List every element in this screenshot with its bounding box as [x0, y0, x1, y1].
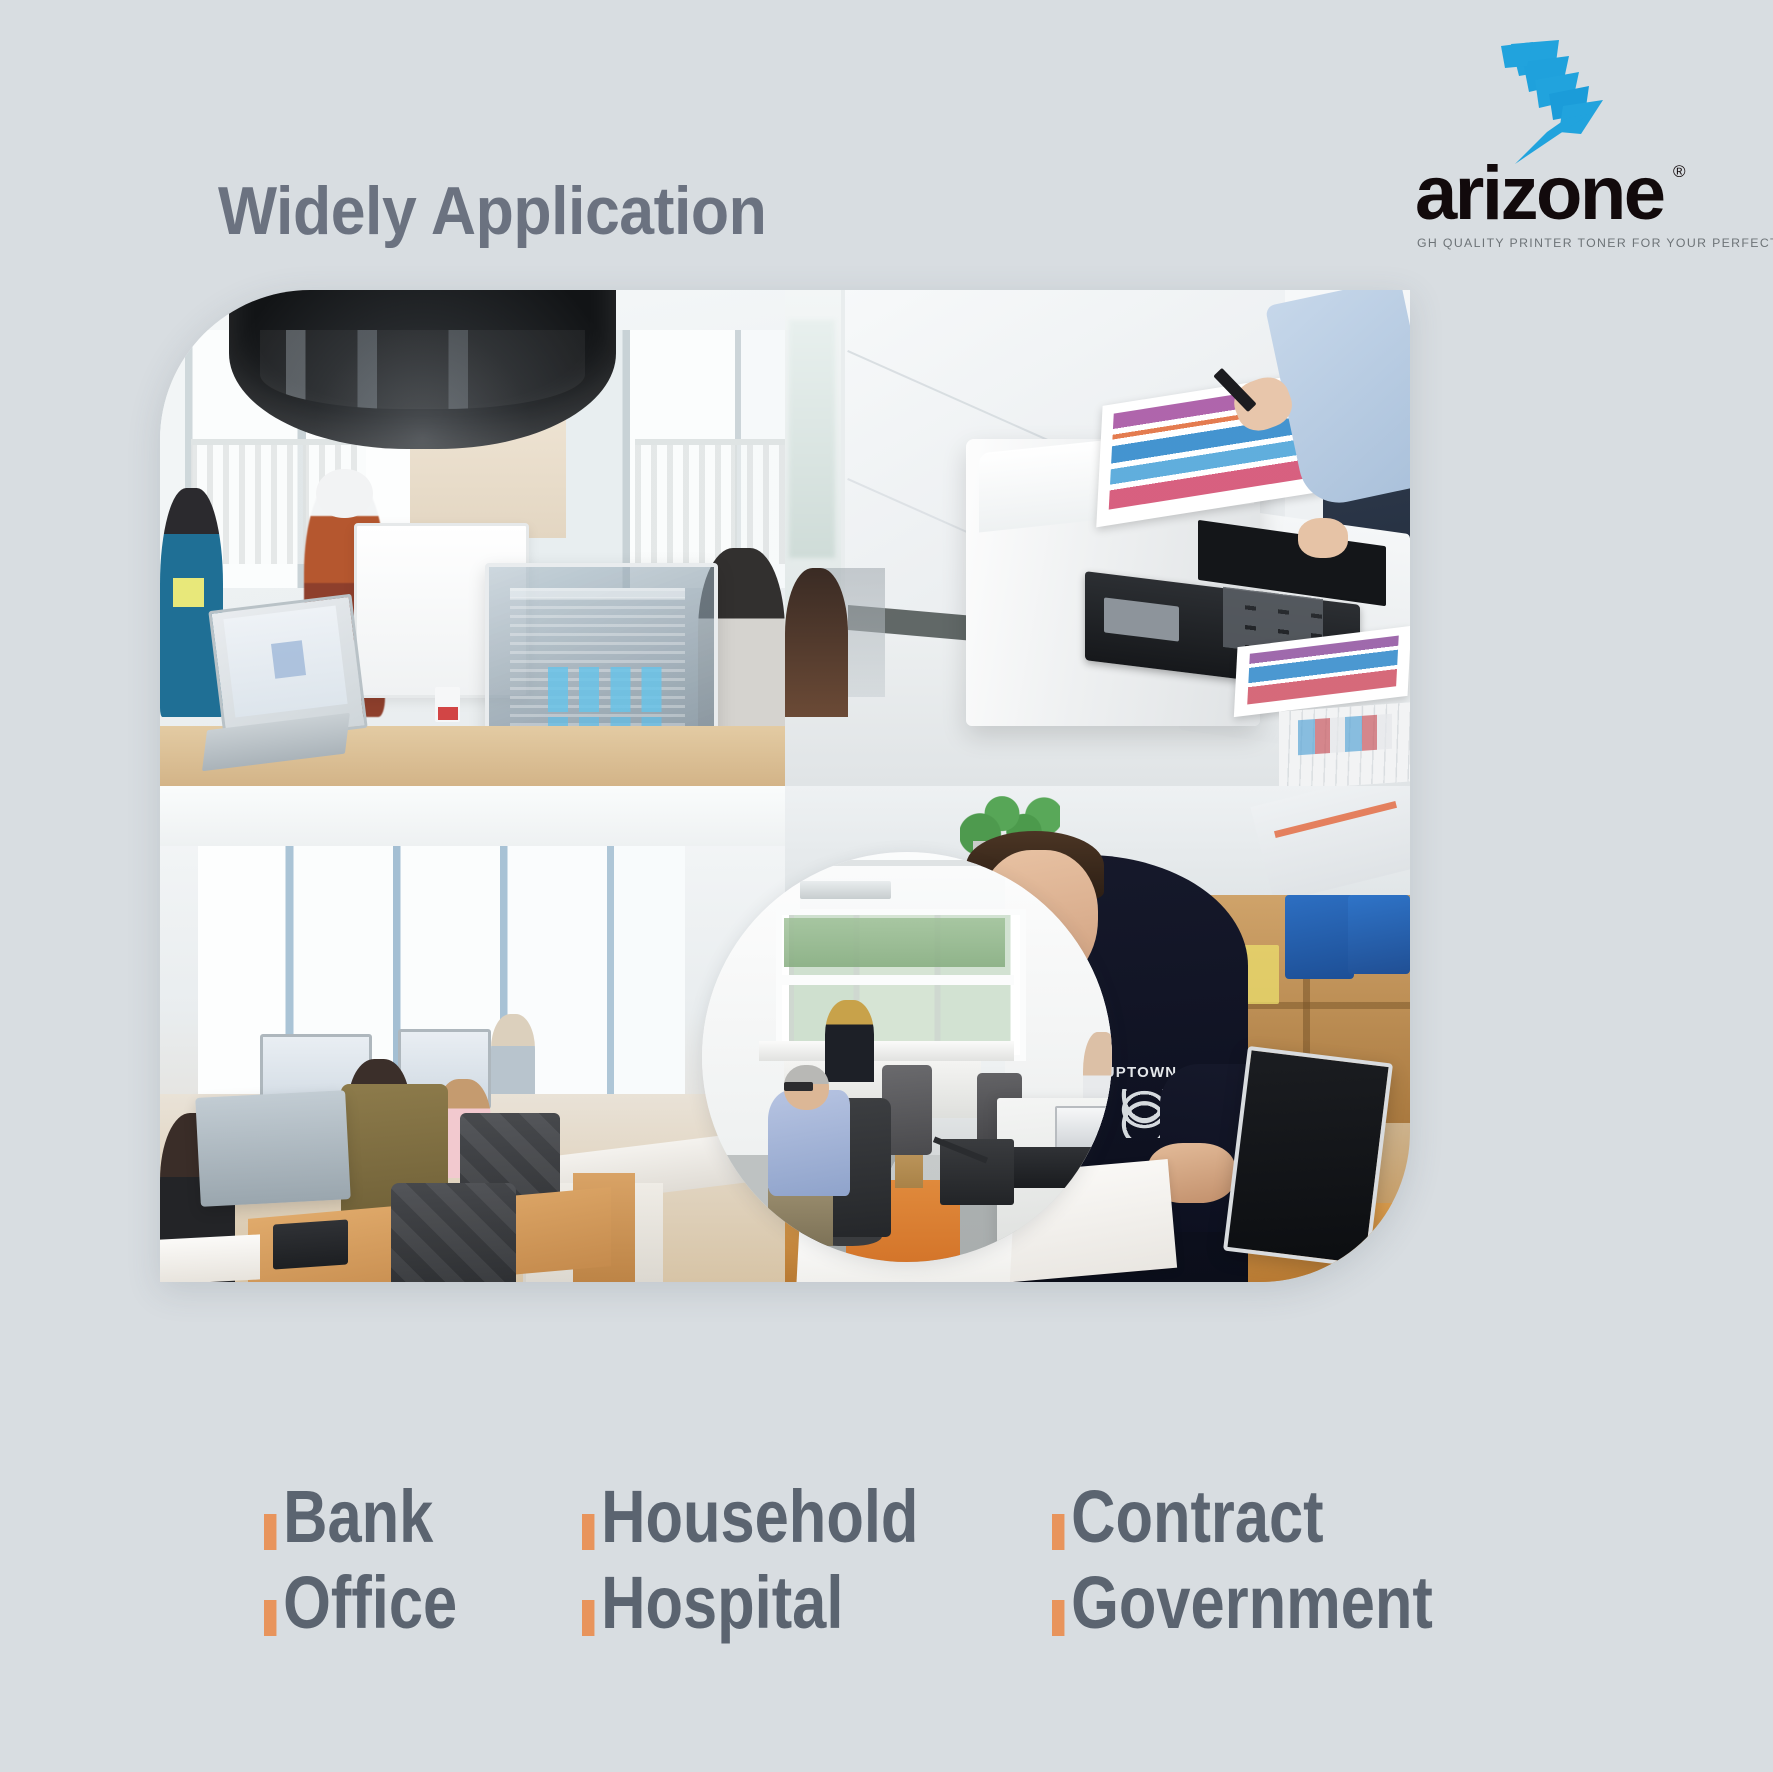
- bullet-square-icon: [264, 1514, 276, 1550]
- logo-wordmark: arizone: [1415, 158, 1715, 230]
- bullet-square-icon: [582, 1600, 594, 1636]
- keyword-label: Bank: [283, 1480, 433, 1554]
- keyword-label: Office: [283, 1566, 457, 1640]
- brand-logo: arizone ® GH QUALITY PRINTER TONER FOR Y…: [1415, 40, 1715, 255]
- collage-photo-bottom-left: [160, 786, 785, 1282]
- collage-photo-top-right: [785, 290, 1410, 786]
- photo-collage: UPTOWN: [160, 290, 1410, 1282]
- keyword-bank: Bank: [264, 1480, 528, 1554]
- keyword-label: Government: [1071, 1566, 1433, 1640]
- keyword-label: Household: [601, 1480, 918, 1554]
- keyword-contract: Contract: [1052, 1480, 1384, 1554]
- page-title: Widely Application: [218, 172, 766, 250]
- bird-icon: [1463, 40, 1603, 165]
- collage-photo-center-circle: [702, 852, 1112, 1262]
- bullet-square-icon: [1052, 1600, 1064, 1636]
- keyword-label: Hospital: [601, 1566, 843, 1640]
- keyword-office: Office: [264, 1566, 528, 1640]
- bullet-square-icon: [1052, 1514, 1064, 1550]
- registered-trademark-icon: ®: [1673, 162, 1686, 182]
- keyword-row-2: Office Hospital Government: [264, 1566, 1584, 1640]
- logo-tagline: GH QUALITY PRINTER TONER FOR YOUR PERFEC…: [1417, 236, 1773, 250]
- application-keyword-list: Bank Household Contract Office Hospital: [264, 1480, 1584, 1652]
- keyword-label: Contract: [1071, 1480, 1324, 1554]
- keyword-row-1: Bank Household Contract: [264, 1480, 1584, 1554]
- bullet-square-icon: [582, 1514, 594, 1550]
- poster-page: Widely Application arizone ® GH QUALITY …: [0, 0, 1773, 1772]
- keyword-household: Household: [582, 1480, 972, 1554]
- keyword-hospital: Hospital: [582, 1566, 972, 1640]
- keyword-government: Government: [1052, 1566, 1384, 1640]
- bullet-square-icon: [264, 1600, 276, 1636]
- collage-photo-top-left: [160, 290, 785, 786]
